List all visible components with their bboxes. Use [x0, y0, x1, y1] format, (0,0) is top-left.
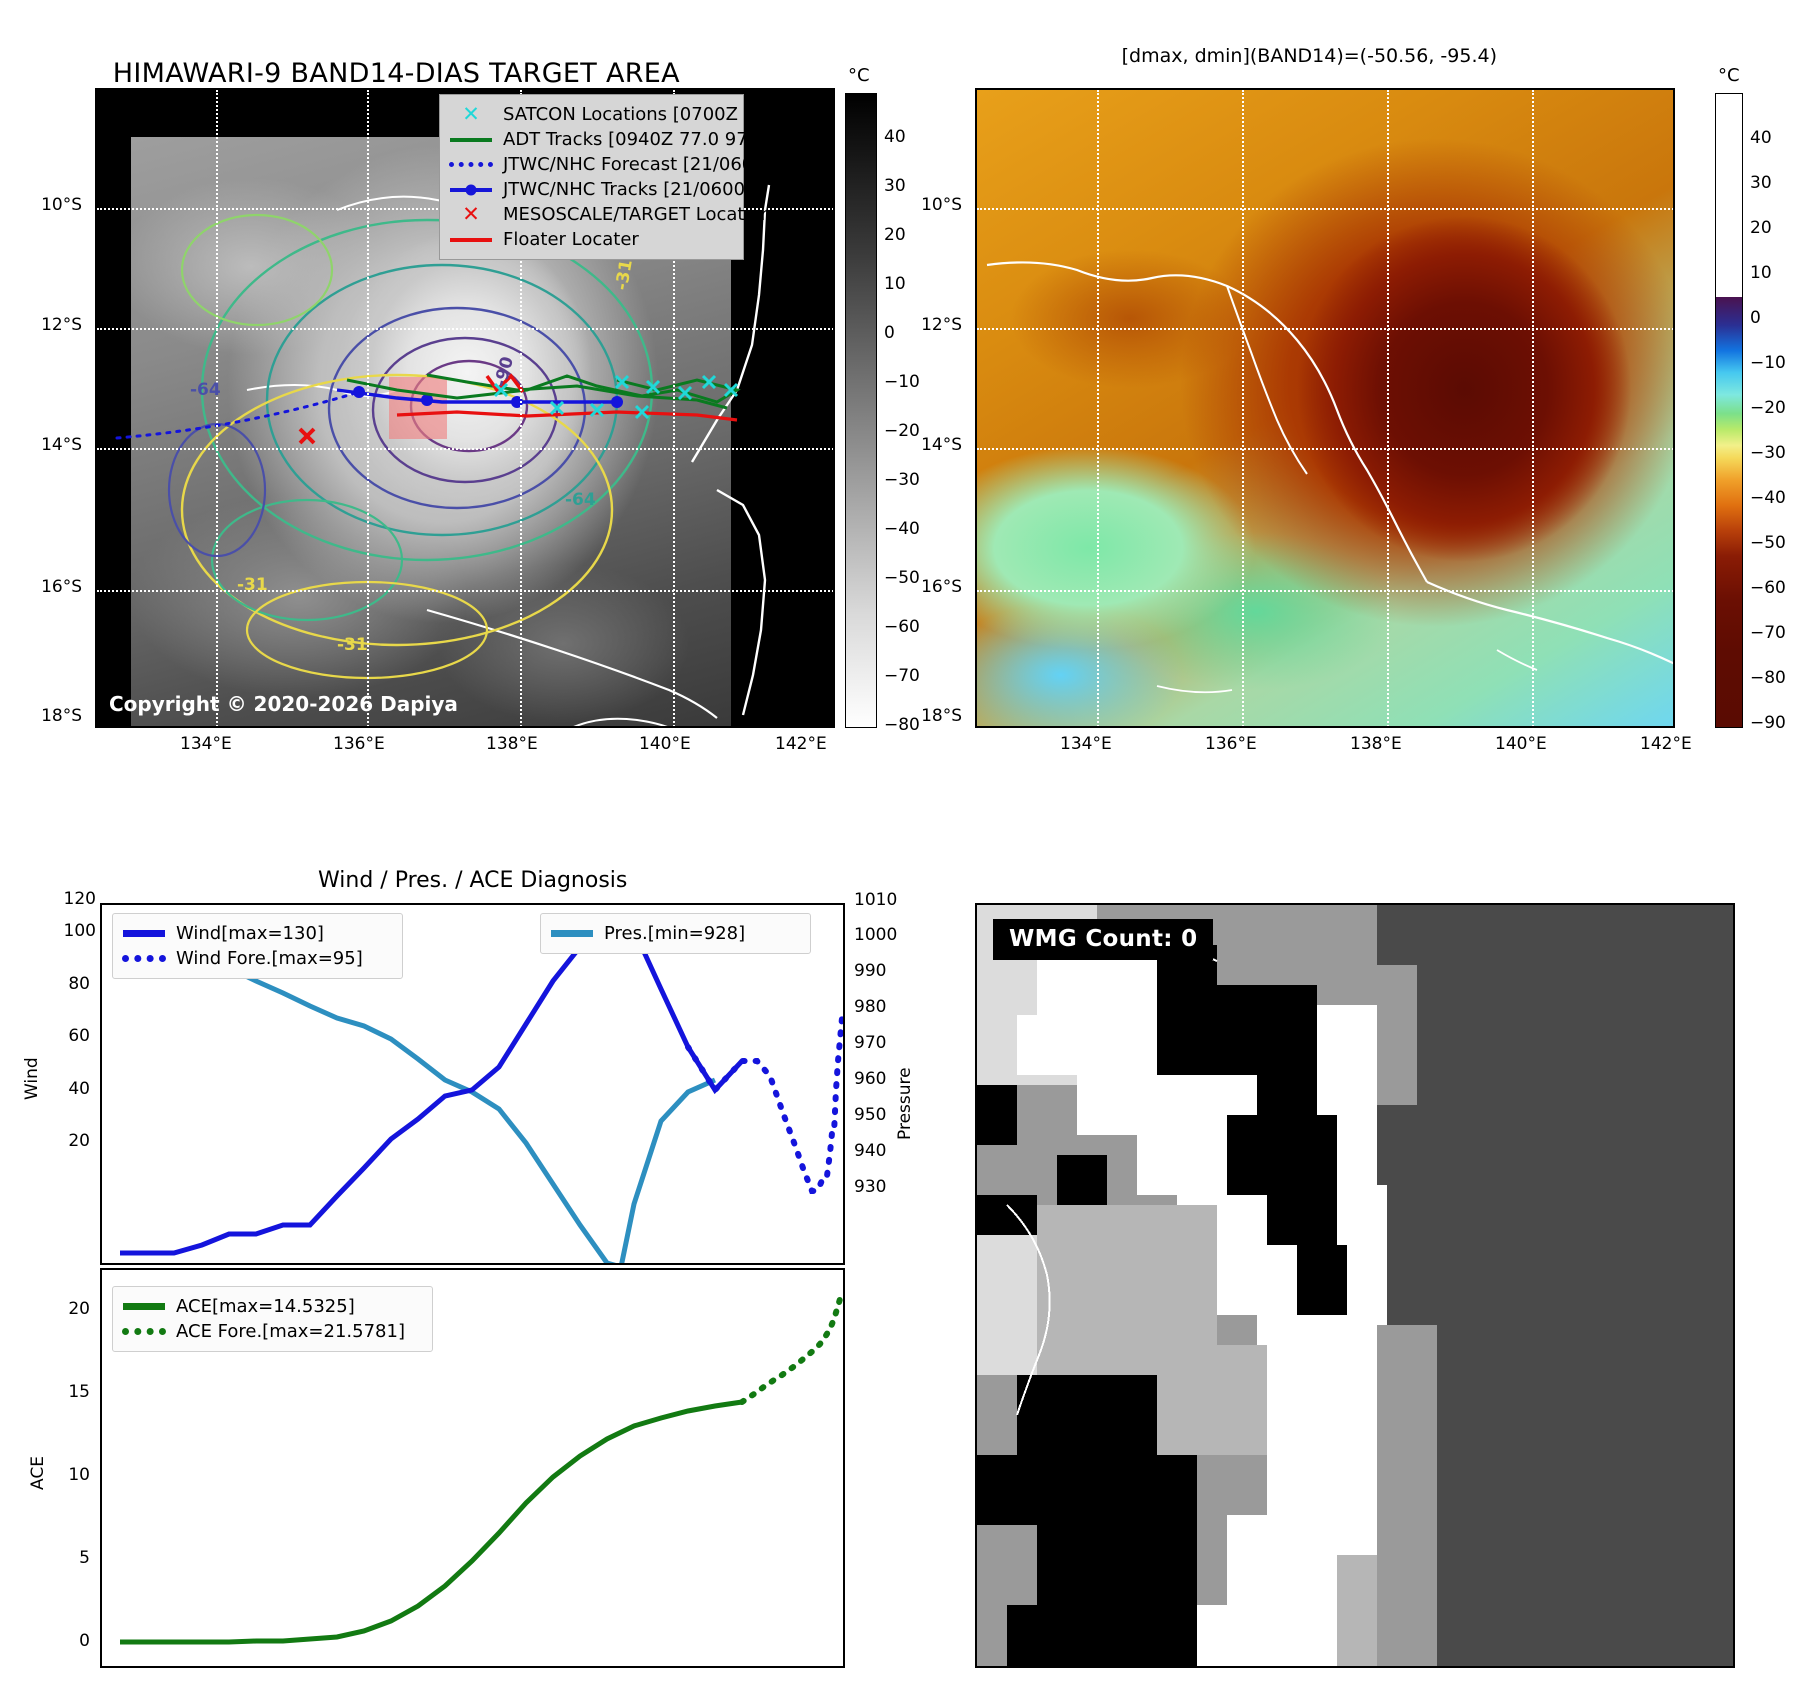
contour-label: -64 [190, 380, 221, 400]
cbtick: 20 [1750, 218, 1772, 238]
xtick: 142°E [1640, 734, 1692, 754]
ace-forecast-series [742, 1292, 842, 1402]
cbtick: 20 [884, 225, 906, 245]
xtick: 138°E [1350, 734, 1402, 754]
ytick: 5 [79, 1548, 90, 1568]
wind-legend[interactable]: Wind[max=130] Wind Fore.[max=95] [112, 913, 403, 979]
legend-label: Wind Fore.[max=95] [176, 948, 363, 969]
cbtick: −50 [1750, 533, 1786, 553]
ace-ytick-labels: 0 5 10 15 20 [48, 1268, 94, 1668]
tl-ytick-labels: 10°S 12°S 14°S 16°S 18°S [36, 88, 88, 728]
tr-colorbar [1715, 93, 1743, 728]
gridline-lat [977, 328, 1675, 330]
gridline-lon [1242, 90, 1244, 728]
xtick: 140°E [639, 734, 691, 754]
chart-title: Wind / Pres. / ACE Diagnosis [318, 868, 627, 893]
ytick: 10°S [41, 195, 82, 215]
ytick: 14°S [41, 435, 82, 455]
ytick: 940 [854, 1141, 886, 1161]
solid-line-icon [550, 930, 594, 937]
cbtick: 10 [884, 274, 906, 294]
xtick: 134°E [180, 734, 232, 754]
legend-label: ACE Fore.[max=21.5781] [176, 1321, 405, 1342]
legend-label: JTWC/NHC Forecast [21/0600Z] [503, 154, 784, 175]
wind-axis-label: Wind [22, 1057, 42, 1100]
cbtick: −90 [1750, 713, 1786, 733]
cbtick: −70 [1750, 623, 1786, 643]
cbtick: 40 [1750, 128, 1772, 148]
pressure-series [120, 935, 715, 1265]
ytick: 16°S [41, 577, 82, 597]
ytick: 10°S [921, 195, 962, 215]
gridline-lon [1097, 90, 1099, 728]
map-legend[interactable]: ✕ SATCON Locations [0700Z 60 982] ADT Tr… [439, 94, 744, 260]
ytick: 16°S [921, 577, 962, 597]
cbtick: 30 [1750, 173, 1772, 193]
ytick: 120 [64, 889, 96, 909]
solid-line-icon [122, 1303, 166, 1310]
xtick: 134°E [1060, 734, 1112, 754]
ytick: 950 [854, 1105, 886, 1125]
line-with-dot-icon [449, 188, 493, 192]
dotted-line-icon [122, 1328, 166, 1335]
cbtick: 40 [884, 127, 906, 147]
legend-item[interactable]: Floater Locater [449, 227, 733, 252]
ytick: 10 [68, 1465, 90, 1485]
ytick: 18°S [41, 706, 82, 726]
wind-ytick-labels: 20 40 60 80 100 120 [48, 903, 94, 1265]
legend-label: Floater Locater [503, 229, 639, 250]
contour-label: -31 [337, 635, 368, 655]
gridline-lat [977, 448, 1675, 450]
tr-ytick-labels: 10°S 12°S 14°S 16°S 18°S [910, 88, 968, 728]
cbtick: −10 [1750, 353, 1786, 373]
gridline-lon [216, 90, 218, 728]
xtick: 142°E [775, 734, 827, 754]
legend-item[interactable]: JTWC/NHC Forecast [21/0600Z] [449, 152, 733, 177]
solid-line-icon [449, 238, 493, 242]
xtick: 140°E [1495, 734, 1547, 754]
gridline-lat [977, 208, 1675, 210]
legend-label: Wind[max=130] [176, 923, 324, 944]
gridline-lat [97, 328, 835, 330]
legend-item[interactable]: JTWC/NHC Tracks [21/0600Z] [449, 177, 733, 202]
legend-item[interactable]: ✕ MESOSCALE/TARGET Location [449, 202, 733, 227]
ytick: 20 [68, 1131, 90, 1151]
title-line-1: HIMAWARI-9 BAND14-DIAS TARGET AREA [113, 58, 680, 89]
ytick: 930 [854, 1177, 886, 1197]
legend-label: Pres.[min=928] [604, 923, 745, 944]
legend-label: MESOSCALE/TARGET Location [503, 204, 772, 225]
contour-label: -31 [237, 575, 268, 595]
wmg-cells [977, 905, 1735, 1668]
wind-forecast-series [688, 1018, 842, 1191]
x-marker-icon: ✕ [449, 104, 493, 125]
tr-colorbar-title: °C [1718, 65, 1740, 86]
legend-item[interactable]: ACE Fore.[max=21.5781] [122, 1319, 422, 1344]
legend-item[interactable]: ✕ SATCON Locations [0700Z 60 982] [449, 102, 733, 127]
enhanced-ir-image [977, 90, 1673, 726]
legend-item[interactable]: Wind[max=130] [122, 921, 392, 946]
ytick: 14°S [921, 435, 962, 455]
ace-legend[interactable]: ACE[max=14.5325] ACE Fore.[max=21.5781] [112, 1286, 433, 1352]
cbtick: 0 [884, 323, 895, 343]
ytick: 40 [68, 1079, 90, 1099]
tr-colorbar-ticks: 40 30 20 10 0 −10 −20 −30 −40 −50 −60 −7… [1750, 93, 1797, 728]
xtick: 136°E [1205, 734, 1257, 754]
cbtick: 10 [1750, 263, 1772, 283]
gridline-lon [1532, 90, 1534, 728]
ace-axis-label: ACE [28, 1456, 48, 1490]
legend-label: JTWC/NHC Tracks [21/0600Z] [503, 179, 764, 200]
legend-item[interactable]: ACE[max=14.5325] [122, 1294, 422, 1319]
ytick: 12°S [921, 315, 962, 335]
dmax-dmin-band14: [dmax, dmin](BAND14)=(-50.56, -95.4) [1122, 45, 1497, 67]
legend-item[interactable]: Wind Fore.[max=95] [122, 946, 392, 971]
pressure-legend[interactable]: Pres.[min=928] [540, 913, 811, 954]
wmg-count-badge: WMG Count: 0 [993, 919, 1213, 960]
solid-line-icon [122, 930, 166, 937]
ytick: 1000 [854, 925, 897, 945]
cbtick: −40 [1750, 488, 1786, 508]
ytick: 12°S [41, 315, 82, 335]
tl-colorbar [845, 93, 877, 728]
copyright-text: Copyright © 2020-2026 Dapiya [109, 692, 458, 716]
cbtick: −20 [1750, 398, 1786, 418]
panel-himawari-grayscale[interactable]: -64 -64 -90 -31 -31 -31 Copyright © 2020… [95, 88, 835, 728]
dotted-line-icon [449, 162, 493, 167]
cbtick: −80 [1750, 668, 1786, 688]
ytick: 20 [68, 1299, 90, 1319]
x-marker-icon: ✕ [449, 204, 493, 225]
legend-label: ADT Tracks [0940Z 77.0 975.7] [503, 129, 783, 150]
xtick: 138°E [486, 734, 538, 754]
gridline-lon [1387, 90, 1389, 728]
gridline-lat [977, 590, 1675, 592]
ytick: 0 [79, 1631, 90, 1651]
cbtick: 0 [1750, 308, 1761, 328]
ytick: 100 [64, 921, 96, 941]
xtick: 136°E [333, 734, 385, 754]
ytick: 960 [854, 1069, 886, 1089]
cbtick: 30 [884, 176, 906, 196]
ytick: 1010 [854, 890, 897, 910]
cbtick: −60 [1750, 578, 1786, 598]
solid-line-icon [449, 138, 493, 142]
pressure-ytick-labels: 1010 1000 990 980 970 960 950 940 930 [854, 903, 914, 1265]
ytick: 80 [68, 974, 90, 994]
wmg-mosaic-image: WMG Count: 0 [977, 905, 1733, 1666]
cbtick: −30 [1750, 443, 1786, 463]
ytick: 970 [854, 1033, 886, 1053]
ytick: 18°S [921, 706, 962, 726]
legend-item[interactable]: ADT Tracks [0940Z 77.0 975.7] [449, 127, 733, 152]
ir-coastline-overlay [977, 90, 1675, 728]
gridline-lat [97, 448, 835, 450]
legend-item[interactable]: Pres.[min=928] [550, 921, 800, 946]
gridline-lat [97, 590, 835, 592]
contour-label: -64 [565, 490, 596, 510]
ytick: 15 [68, 1382, 90, 1402]
panel-enhanced-ir[interactable] [975, 88, 1675, 728]
legend-label: SATCON Locations [0700Z 60 982] [503, 104, 814, 125]
ace-series [120, 1402, 742, 1642]
ytick: 980 [854, 997, 886, 1017]
dotted-line-icon [122, 955, 166, 962]
ytick: 990 [854, 961, 886, 981]
legend-label: ACE[max=14.5325] [176, 1296, 355, 1317]
tl-colorbar-title: °C [848, 65, 870, 86]
panel-wmg[interactable]: WMG Count: 0 [975, 903, 1735, 1668]
gridline-lon [367, 90, 369, 728]
ytick: 60 [68, 1026, 90, 1046]
